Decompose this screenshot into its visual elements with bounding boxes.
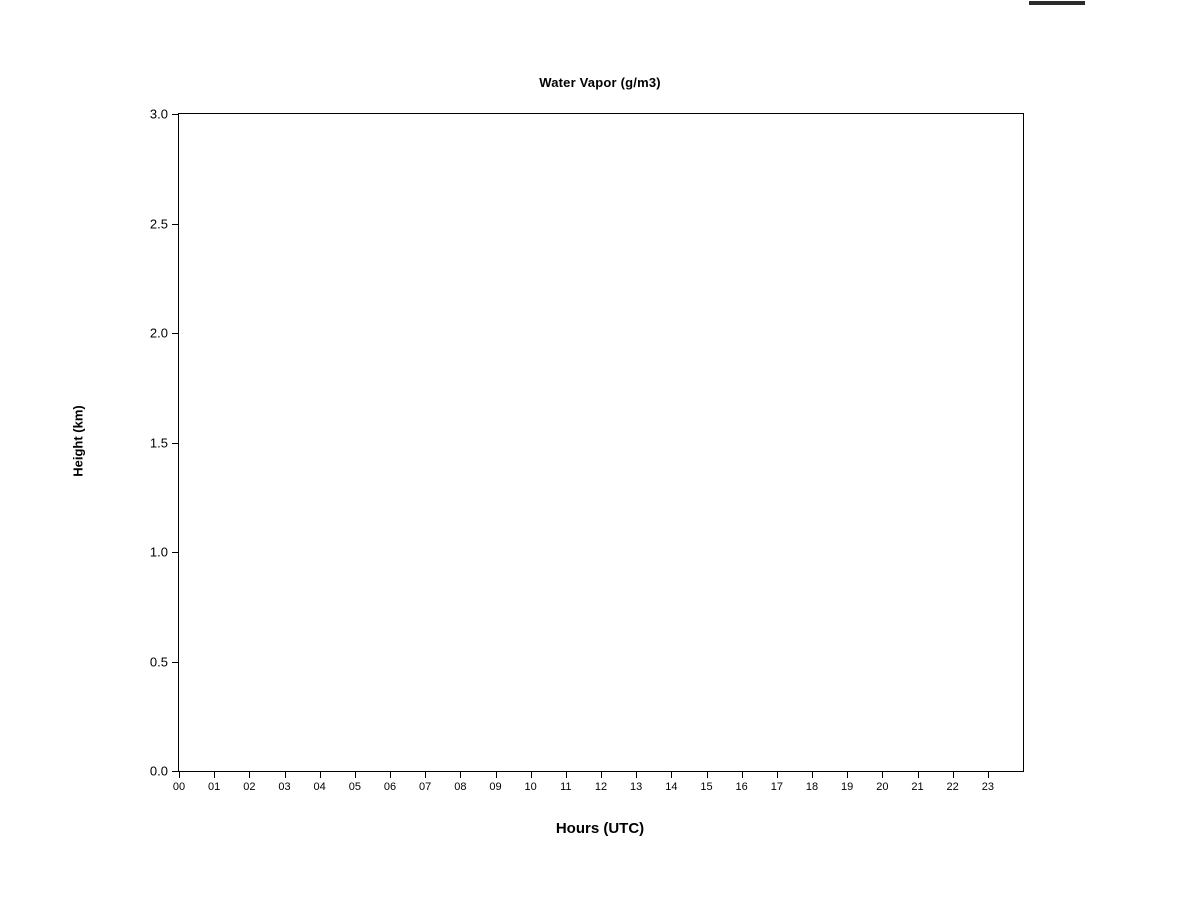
x-tick-label: 01 xyxy=(208,781,220,793)
x-tick xyxy=(918,771,919,778)
x-tick xyxy=(777,771,778,778)
x-tick-label: 23 xyxy=(982,781,994,793)
figure: Water Vapor (g/m3) Height (km) 0.00.51.0… xyxy=(0,0,1200,900)
x-tick xyxy=(496,771,497,778)
x-tick-label: 05 xyxy=(349,781,361,793)
x-tick xyxy=(390,771,391,778)
x-tick xyxy=(425,771,426,778)
x-tick xyxy=(671,771,672,778)
x-tick xyxy=(179,771,180,778)
x-tick-label: 03 xyxy=(278,781,290,793)
x-tick xyxy=(214,771,215,778)
chart-title: Water Vapor (g/m3) xyxy=(0,75,1200,90)
x-tick-label: 09 xyxy=(489,781,501,793)
x-tick xyxy=(531,771,532,778)
x-tick xyxy=(460,771,461,778)
x-tick-label: 06 xyxy=(384,781,396,793)
x-tick xyxy=(601,771,602,778)
y-tick xyxy=(172,114,179,115)
y-tick-label: 0.0 xyxy=(150,764,168,779)
x-tick xyxy=(355,771,356,778)
x-tick-label: 14 xyxy=(665,781,677,793)
x-tick-label: 19 xyxy=(841,781,853,793)
x-tick-label: 08 xyxy=(454,781,466,793)
x-tick-label: 04 xyxy=(314,781,326,793)
y-tick xyxy=(172,443,179,444)
x-tick xyxy=(285,771,286,778)
x-tick xyxy=(882,771,883,778)
y-tick-label: 2.5 xyxy=(150,216,168,231)
y-tick-label: 1.0 xyxy=(150,545,168,560)
x-tick xyxy=(847,771,848,778)
x-tick-label: 15 xyxy=(700,781,712,793)
x-tick-label: 00 xyxy=(173,781,185,793)
y-tick xyxy=(172,333,179,334)
x-tick-label: 07 xyxy=(419,781,431,793)
x-tick-label: 02 xyxy=(243,781,255,793)
x-tick-label: 17 xyxy=(771,781,783,793)
x-tick xyxy=(320,771,321,778)
x-tick-label: 12 xyxy=(595,781,607,793)
x-tick xyxy=(742,771,743,778)
x-tick-label: 11 xyxy=(560,781,571,793)
y-axis-label: Height (km) xyxy=(71,405,86,477)
heatmap-canvas xyxy=(179,114,1023,771)
x-tick xyxy=(249,771,250,778)
x-tick xyxy=(812,771,813,778)
edge-artifact xyxy=(1029,1,1085,5)
y-tick xyxy=(172,771,179,772)
y-tick-label: 2.0 xyxy=(150,326,168,341)
x-tick xyxy=(566,771,567,778)
x-tick-label: 20 xyxy=(876,781,888,793)
x-tick xyxy=(707,771,708,778)
y-tick xyxy=(172,224,179,225)
x-tick xyxy=(953,771,954,778)
x-tick-label: 22 xyxy=(947,781,959,793)
y-tick xyxy=(172,552,179,553)
plot-area: 0.00.51.01.52.02.53.0 000102030405060708… xyxy=(178,113,1024,772)
x-tick-label: 10 xyxy=(525,781,537,793)
x-tick-label: 21 xyxy=(911,781,923,793)
x-axis-label: Hours (UTC) xyxy=(556,820,644,837)
y-tick-label: 3.0 xyxy=(150,107,168,122)
x-tick-label: 13 xyxy=(630,781,642,793)
x-tick xyxy=(636,771,637,778)
y-tick-label: 0.5 xyxy=(150,654,168,669)
y-tick xyxy=(172,662,179,663)
x-tick xyxy=(988,771,989,778)
y-tick-label: 1.5 xyxy=(150,435,168,450)
x-tick-label: 16 xyxy=(736,781,748,793)
colorbar-legend xyxy=(1040,113,1071,770)
x-tick-label: 18 xyxy=(806,781,818,793)
